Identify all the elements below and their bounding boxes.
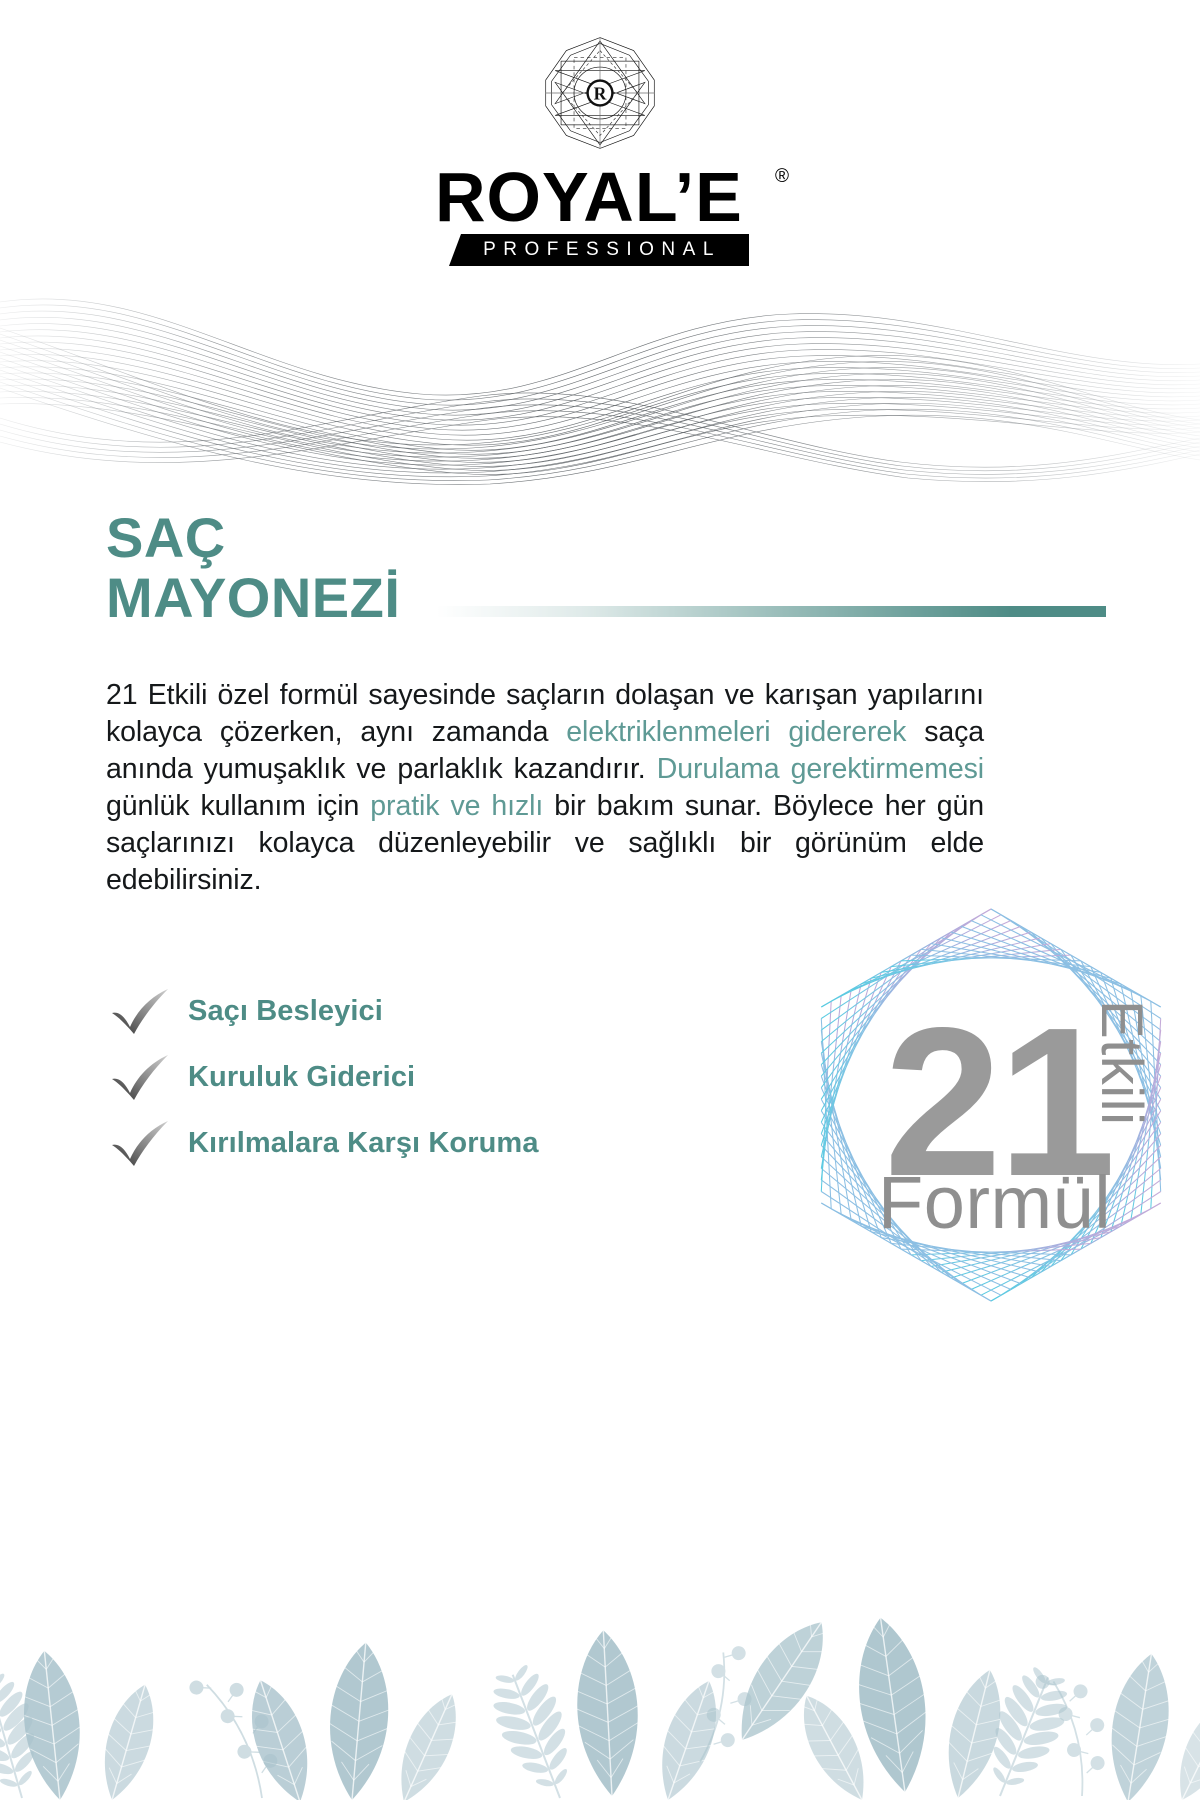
title-line-2: MAYONEZİ xyxy=(106,568,400,628)
svg-text:R: R xyxy=(594,83,607,103)
title-line-1: SAÇ xyxy=(106,508,1106,568)
description-text: günlük kullanım için xyxy=(106,790,370,822)
brand-logo-block: R ROYAL’E ® PROFESSIONAL xyxy=(0,34,1200,270)
feature-list: Saçı BesleyiciKuruluk GidericiKırılmalar… xyxy=(110,980,750,1178)
feature-label: Kırılmalara Karşı Koruma xyxy=(188,1127,539,1160)
registered-trademark-icon: ® xyxy=(775,166,789,188)
feature-item: Kuruluk Giderici xyxy=(110,1046,750,1108)
brand-tagline: PROFESSIONAL xyxy=(449,239,749,261)
wave-decoration-graphic xyxy=(0,268,1200,493)
product-info-page: R ROYAL’E ® PROFESSIONAL xyxy=(0,0,1200,1800)
badge-word: Formül xyxy=(878,1166,1111,1240)
product-description: 21 Etkili özel formül sayesinde saçların… xyxy=(106,677,984,899)
check-mark-icon xyxy=(110,987,172,1035)
description-highlight: Durulama gerektirmemesi xyxy=(657,753,984,785)
feature-item: Saçı Besleyici xyxy=(110,980,750,1042)
brand-wordmark: ROYAL’E xyxy=(435,162,743,232)
brand-wordmark-wrap: ROYAL’E ® PROFESSIONAL xyxy=(435,162,765,270)
description-highlight: pratik ve hızlı xyxy=(370,790,543,822)
brand-tagline-bar: PROFESSIONAL xyxy=(449,234,749,266)
badge-vertical-text: Etkili xyxy=(1092,1000,1150,1125)
feature-label: Saçı Besleyici xyxy=(188,995,383,1028)
check-mark-icon xyxy=(110,1053,172,1101)
royale-geometric-mandala-icon: R xyxy=(541,34,659,152)
feature-label: Kuruluk Giderici xyxy=(188,1061,415,1094)
check-mark-icon xyxy=(110,1119,172,1167)
botanical-decoration-graphic xyxy=(0,1440,1200,1800)
feature-item: Kırılmalara Karşı Koruma xyxy=(110,1112,750,1174)
title-divider xyxy=(436,606,1106,617)
page-title: SAÇ MAYONEZİ xyxy=(106,508,1106,628)
description-highlight: elektriklenmeleri gidererek xyxy=(566,716,906,748)
formula-badge: 21 Etkili Formül xyxy=(776,880,1200,1310)
